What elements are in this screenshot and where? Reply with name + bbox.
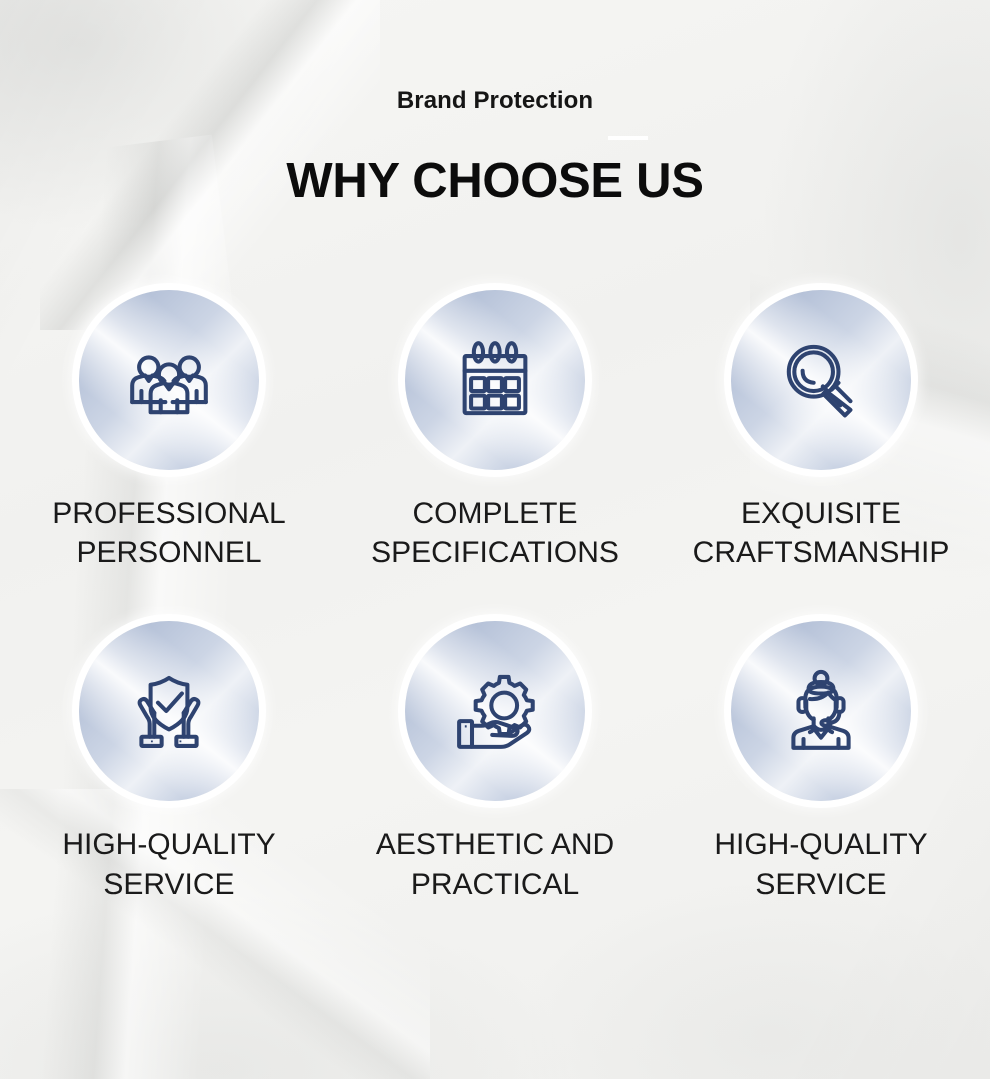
- calendar-icon: [449, 334, 541, 426]
- icon-circle: [731, 290, 911, 470]
- icon-circle: [731, 621, 911, 801]
- icon-circle: [405, 290, 585, 470]
- hand-gear-icon: [449, 665, 541, 757]
- icon-circle: [79, 621, 259, 801]
- header: Brand Protection WHY CHOOSE US: [0, 0, 990, 208]
- icon-circle: [79, 290, 259, 470]
- feature-label: AESTHETIC AND PRACTICAL: [345, 825, 645, 904]
- feature-card: HIGH-QUALITY SERVICE: [6, 621, 332, 904]
- title-divider: [608, 136, 648, 140]
- feature-label: EXQUISITE CRAFTSMANSHIP: [666, 494, 976, 573]
- feature-card: PROFESSIONAL PERSONNEL: [6, 290, 332, 573]
- feature-grid: PROFESSIONAL PERSONNEL CO: [0, 290, 990, 904]
- feature-card: HIGH-QUALITY SERVICE: [658, 621, 984, 904]
- feature-label: COMPLETE SPECIFICATIONS: [345, 494, 645, 573]
- feature-label: HIGH-QUALITY SERVICE: [19, 825, 319, 904]
- hands-shield-check-icon: [123, 665, 215, 757]
- why-choose-us-slide: Brand Protection WHY CHOOSE US: [0, 0, 990, 1079]
- three-people-icon: [123, 334, 215, 426]
- icon-circle-wrapper: EXQUISITE CRAFTSMANSHIP: [658, 290, 984, 573]
- feature-label: PROFESSIONAL PERSONNEL: [45, 494, 293, 573]
- icon-circle: [405, 621, 585, 801]
- headset-agent-icon: [775, 665, 867, 757]
- magnifying-glass-icon: [775, 334, 867, 426]
- page-title: WHY CHOOSE US: [0, 156, 990, 207]
- feature-card: COMPLETE SPECIFICATIONS: [332, 290, 658, 573]
- eyebrow-text: Brand Protection: [0, 88, 990, 114]
- feature-card: AESTHETIC AND PRACTICAL: [332, 621, 658, 904]
- divider-wrapper: [0, 114, 990, 156]
- feature-label: HIGH-QUALITY SERVICE: [671, 825, 971, 904]
